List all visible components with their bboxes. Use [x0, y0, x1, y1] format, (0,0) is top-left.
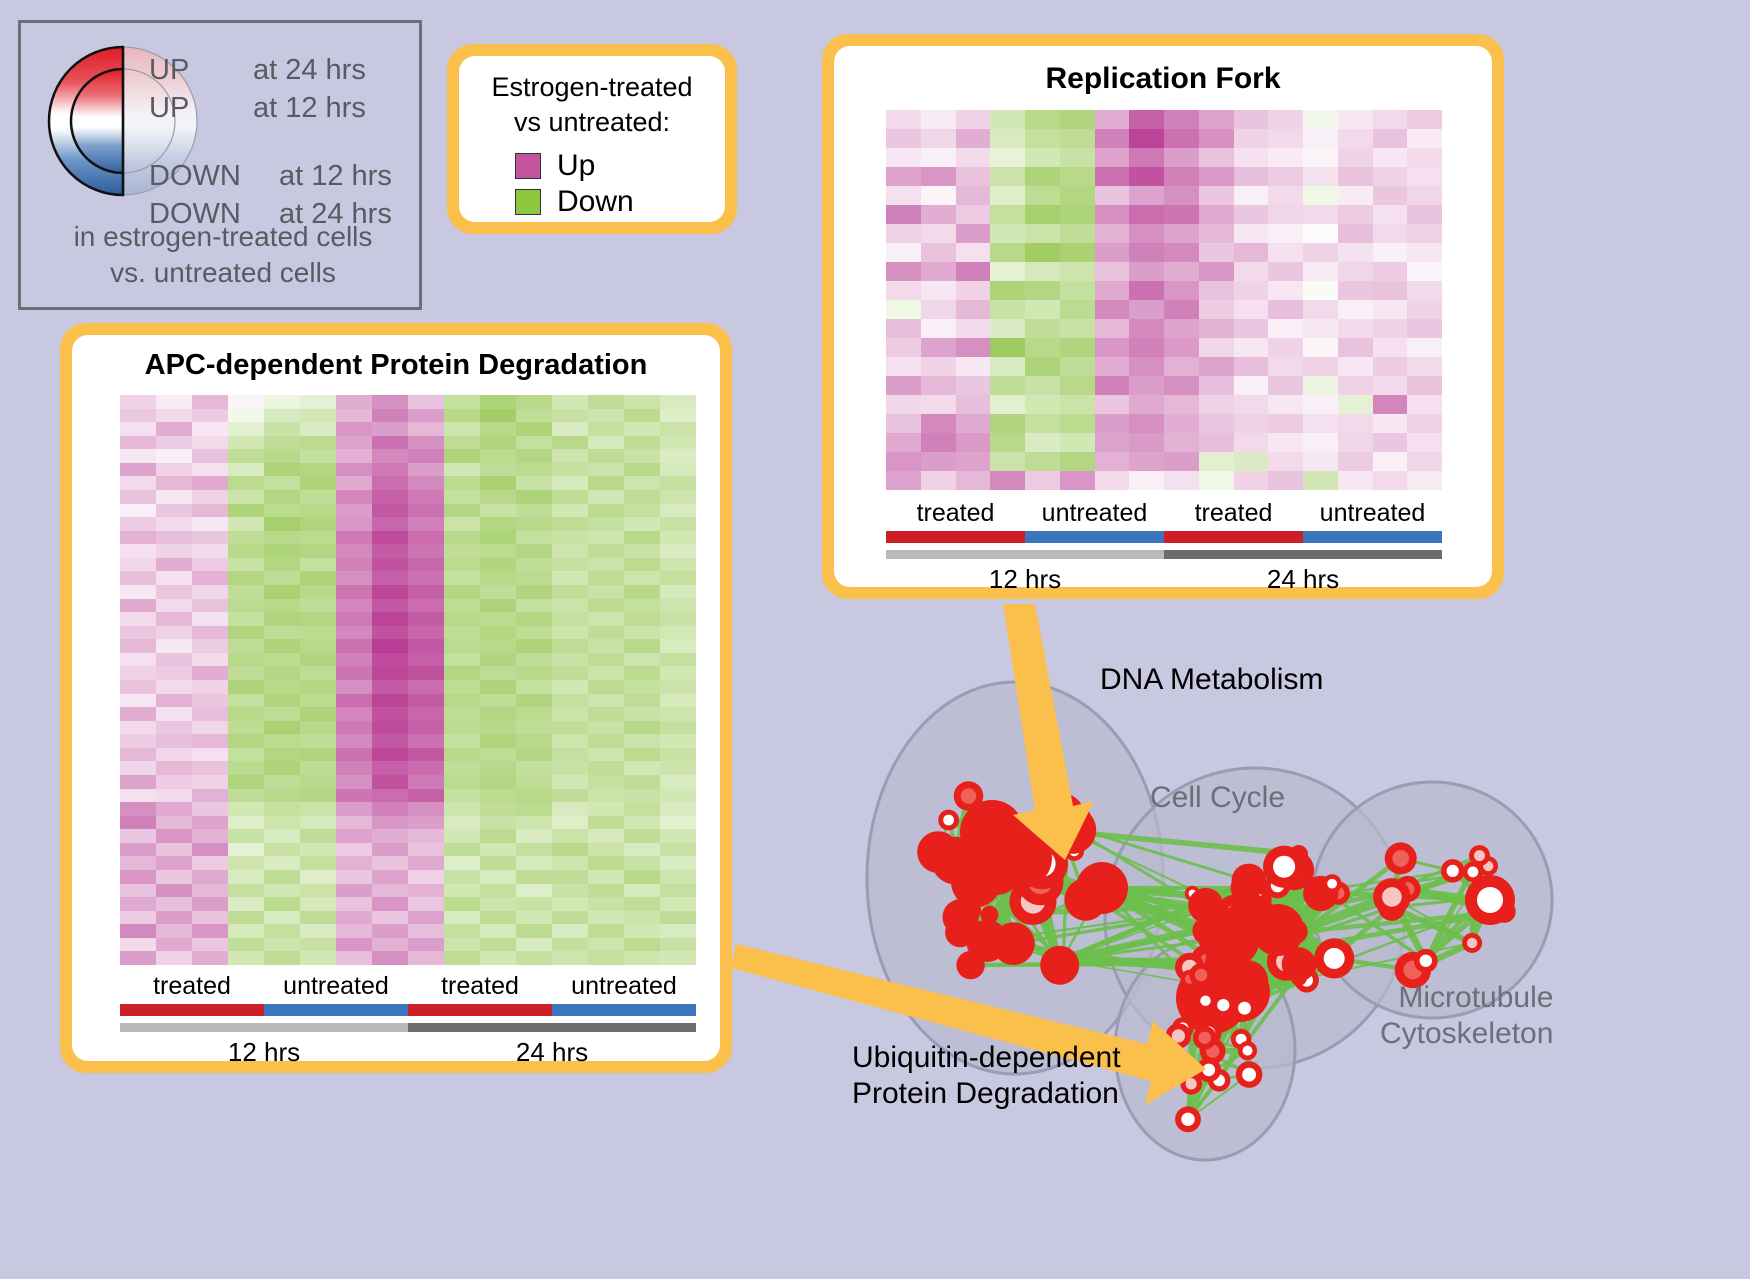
network-node-core: [1327, 879, 1337, 889]
heatmap-cell: [1129, 243, 1164, 262]
heatmap-cell: [300, 789, 336, 803]
heatmap-cell: [886, 205, 921, 224]
heatmap-cell: [300, 884, 336, 898]
heatmap-cell: [1199, 205, 1234, 224]
heatmap-cell: [300, 449, 336, 463]
heatmap-cell: [120, 789, 156, 803]
heatmap-cell: [1025, 452, 1060, 471]
heatmap-cell: [300, 517, 336, 531]
wheel-state-label: UP: [149, 94, 253, 123]
heatmap-cell: [552, 775, 588, 789]
heatmap-cell: [228, 884, 264, 898]
heatmap-cell: [156, 802, 192, 816]
network-node: [1039, 793, 1085, 839]
heatmap-cell: [156, 694, 192, 708]
heatmap-cell: [886, 452, 921, 471]
heatmap-cell: [192, 707, 228, 721]
heatmap-cell: [120, 694, 156, 708]
heatmap-cell: [156, 938, 192, 952]
heatmap-cell: [228, 585, 264, 599]
heatmap-cell: [516, 558, 552, 572]
heatmap-cell: [624, 571, 660, 585]
heatmap-cell: [192, 612, 228, 626]
heatmap-cell: [300, 775, 336, 789]
heatmap-cell: [408, 911, 444, 925]
heatmap-cell: [921, 452, 956, 471]
heatmap-cell: [372, 721, 408, 735]
heatmap-cell: [956, 452, 991, 471]
heatmap-cell: [444, 802, 480, 816]
heatmap-cell: [1303, 452, 1338, 471]
heatmap-cell: [552, 843, 588, 857]
heatmap-cell: [228, 707, 264, 721]
legend-item-label: Down: [557, 187, 634, 217]
heatmap-cell: [264, 517, 300, 531]
heatmap-cell: [192, 409, 228, 423]
heatmap-cell: [552, 707, 588, 721]
heatmap-cell: [300, 409, 336, 423]
heatmap-cell: [372, 938, 408, 952]
heatmap-cell: [516, 517, 552, 531]
heatmap-cell: [372, 829, 408, 843]
axis-group-label: untreated: [1025, 498, 1164, 528]
heatmap-cell: [336, 558, 372, 572]
heatmap-cell: [336, 626, 372, 640]
heatmap-cell: [120, 911, 156, 925]
axis-time-labels: 12 hrs 24 hrs: [120, 1036, 696, 1068]
heatmap-cell: [336, 924, 372, 938]
heatmap-cell: [372, 490, 408, 504]
heatmap-cell: [1373, 205, 1408, 224]
heatmap-cell: [1373, 300, 1408, 319]
heatmap-cell: [300, 734, 336, 748]
heatmap-cell: [120, 463, 156, 477]
heatmap-cell: [300, 911, 336, 925]
heatmap-cell: [1025, 129, 1060, 148]
heatmap-cell: [588, 829, 624, 843]
heatmap-cell: [336, 436, 372, 450]
heatmap-cell: [1303, 471, 1338, 490]
heatmap-cell: [1234, 471, 1269, 490]
heatmap-cell: [228, 612, 264, 626]
heatmap-cell: [336, 802, 372, 816]
heatmap-cell: [444, 680, 480, 694]
heatmap-cell: [264, 612, 300, 626]
heatmap-cell: [1199, 319, 1234, 338]
heatmap-cell: [660, 802, 696, 816]
heatmap-cell: [300, 544, 336, 558]
heatmap-cell: [552, 517, 588, 531]
heatmap-cell: [1268, 186, 1303, 205]
heatmap-cell: [1234, 167, 1269, 186]
untreated-bar-12h: [1025, 531, 1164, 543]
heatmap-cell: [228, 531, 264, 545]
heatmap-cell: [300, 816, 336, 830]
heatmap-cell: [1095, 110, 1130, 129]
heatmap-cell: [1407, 433, 1442, 452]
heatmap-cell: [1199, 376, 1234, 395]
heatmap-cell: [228, 694, 264, 708]
heatmap-cell: [228, 490, 264, 504]
heatmap-cell: [1095, 186, 1130, 205]
heatmap-cell: [660, 463, 696, 477]
heatmap-cell: [444, 653, 480, 667]
heatmap-cell: [1095, 338, 1130, 357]
heatmap-cell: [552, 734, 588, 748]
heatmap-cell: [1407, 148, 1442, 167]
heatmap-cell: [408, 694, 444, 708]
heatmap-cell: [1060, 376, 1095, 395]
heatmap-cell: [480, 544, 516, 558]
heatmap-cell: [516, 816, 552, 830]
heatmap-cell: [516, 544, 552, 558]
heatmap-cell: [120, 544, 156, 558]
heatmap-cell: [660, 544, 696, 558]
axis-group-label: treated: [886, 498, 1025, 528]
network-node-core: [1200, 996, 1210, 1006]
heatmap-cell: [300, 829, 336, 843]
heatmap-cell: [156, 653, 192, 667]
heatmap-cell: [1095, 148, 1130, 167]
heatmap-cell: [1234, 357, 1269, 376]
heatmap-cell: [264, 680, 300, 694]
heatmap-cell: [588, 694, 624, 708]
heatmap-cell: [120, 531, 156, 545]
heatmap-cell: [1060, 148, 1095, 167]
network-node-core: [961, 788, 976, 803]
heatmap-cell: [1129, 338, 1164, 357]
heatmap-cell: [1164, 376, 1199, 395]
heatmap-cell: [660, 884, 696, 898]
heatmap-cell: [1373, 452, 1408, 471]
colour-wheel-legend: UP at 24 hrs UP at 12 hrs DOWN at 12 hrs…: [18, 20, 422, 310]
heatmap-cell: [552, 748, 588, 762]
heatmap-cell: [516, 748, 552, 762]
heatmap-cell: [624, 789, 660, 803]
heatmap-cell: [588, 884, 624, 898]
heatmap-cell: [588, 789, 624, 803]
heatmap-cell: [624, 951, 660, 965]
heatmap-cell: [336, 409, 372, 423]
heatmap-cell: [372, 856, 408, 870]
heatmap-cell: [264, 653, 300, 667]
heatmap-cell: [264, 816, 300, 830]
heatmap-cell: [444, 626, 480, 640]
colour-wheel-caption: in estrogen-treated cells vs. untreated …: [21, 219, 425, 291]
heatmap-cell: [1268, 262, 1303, 281]
heatmap-cell: [588, 653, 624, 667]
heatmap-cell: [588, 422, 624, 436]
heatmap-cell: [1025, 224, 1060, 243]
heatmap-cell: [120, 449, 156, 463]
heatmap-cell: [372, 707, 408, 721]
network-node-core: [1273, 856, 1295, 878]
heatmap-cell: [192, 639, 228, 653]
network-node-core: [1172, 1029, 1185, 1042]
heatmap-cell: [1129, 300, 1164, 319]
heatmap-cell: [120, 870, 156, 884]
heatmap-cell: [264, 775, 300, 789]
heatmap-cell: [192, 517, 228, 531]
heatmap-cell: [1164, 224, 1199, 243]
heatmap-cell: [588, 911, 624, 925]
heatmap-cell: [990, 471, 1025, 490]
heatmap-cell: [624, 721, 660, 735]
heatmap-cell: [228, 436, 264, 450]
heatmap-cell: [228, 734, 264, 748]
heatmap-cell: [300, 490, 336, 504]
heatmap-cell: [1234, 110, 1269, 129]
legend-item-down: Down: [515, 184, 634, 220]
heatmap-cell: [660, 436, 696, 450]
heatmap-cell: [372, 775, 408, 789]
heatmap-cell: [588, 924, 624, 938]
heatmap-cell: [408, 924, 444, 938]
heatmap-cell: [1060, 281, 1095, 300]
heatmap-cell: [1303, 357, 1338, 376]
heatmap-cell: [624, 870, 660, 884]
heatmap-cell: [1129, 167, 1164, 186]
heatmap-cell: [480, 653, 516, 667]
heatmap-cell: [1025, 395, 1060, 414]
heatmap-cell: [192, 721, 228, 735]
heatmap-cell: [1199, 129, 1234, 148]
heatmap-cell: [552, 504, 588, 518]
heatmap-cell: [1199, 262, 1234, 281]
heatmap-cell: [1338, 262, 1373, 281]
heatmap-cell: [956, 186, 991, 205]
heatmap-cell: [264, 924, 300, 938]
heatmap-cell: [660, 694, 696, 708]
heatmap-cell: [624, 449, 660, 463]
heatmap-cell: [300, 626, 336, 640]
heatmap-cell: [1095, 414, 1130, 433]
heatmap-cell: [624, 843, 660, 857]
heatmap-cell: [336, 571, 372, 585]
heatmap-cell: [552, 531, 588, 545]
heatmap-cell: [408, 571, 444, 585]
heatmap-cell: [516, 449, 552, 463]
heatmap-cell: [624, 761, 660, 775]
heatmap-cell: [480, 490, 516, 504]
heatmap-cell: [480, 911, 516, 925]
heatmap-cell: [660, 626, 696, 640]
replication-fork-inner: Replication Fork treated untreated treat…: [834, 46, 1492, 587]
heatmap-cell: [588, 680, 624, 694]
apc-degradation-panel: APC-dependent Protein Degradation treate…: [60, 323, 732, 1073]
heatmap-cell: [228, 599, 264, 613]
heatmap-cell: [1095, 205, 1130, 224]
heatmap-cell: [1164, 433, 1199, 452]
heatmap-cell: [921, 319, 956, 338]
heatmap-cell: [480, 856, 516, 870]
heatmap-cell: [990, 281, 1025, 300]
heatmap-cell: [444, 558, 480, 572]
heatmap-cell: [886, 433, 921, 452]
heatmap-cell: [228, 951, 264, 965]
heatmap-cell: [660, 897, 696, 911]
heatmap-cell: [300, 748, 336, 762]
heatmap-cell: [336, 870, 372, 884]
heatmap-cell: [1129, 110, 1164, 129]
heatmap-cell: [921, 167, 956, 186]
heatmap-cell: [552, 626, 588, 640]
heatmap-cell: [1303, 148, 1338, 167]
heatmap-cell: [480, 409, 516, 423]
heatmap-cell: [408, 789, 444, 803]
heatmap-cell: [228, 422, 264, 436]
heatmap-cell: [1199, 357, 1234, 376]
heatmap-cell: [300, 612, 336, 626]
heatmap-cell: [372, 734, 408, 748]
heatmap-cell: [516, 612, 552, 626]
heatmap-cell: [480, 585, 516, 599]
heatmap-cell: [624, 463, 660, 477]
heatmap-cell: [990, 414, 1025, 433]
heatmap-cell: [372, 504, 408, 518]
heatmap-cell: [1373, 224, 1408, 243]
heatmap-cell: [372, 870, 408, 884]
legend-title-line-2: vs untreated:: [459, 105, 725, 140]
heatmap-cell: [660, 951, 696, 965]
heatmap-cell: [228, 449, 264, 463]
heatmap-cell: [264, 436, 300, 450]
heatmap-cell: [480, 436, 516, 450]
legend-title-line-1: Estrogen-treated: [459, 70, 725, 105]
heatmap-cell: [921, 262, 956, 281]
heatmap-cell: [192, 924, 228, 938]
axis-time-label: 12 hrs: [886, 563, 1164, 595]
heatmap-cell: [956, 338, 991, 357]
heatmap-cell: [192, 449, 228, 463]
heatmap-cell: [408, 843, 444, 857]
caption-line-2: vs. untreated cells: [21, 255, 425, 291]
heatmap-cell: [588, 639, 624, 653]
heatmap-cell: [516, 504, 552, 518]
heatmap-cell: [1303, 319, 1338, 338]
heatmap-cell: [444, 721, 480, 735]
heatmap-cell: [336, 721, 372, 735]
heatmap-cell: [336, 395, 372, 409]
heatmap-cell: [660, 395, 696, 409]
heatmap-cell: [372, 666, 408, 680]
heatmap-cell: [886, 471, 921, 490]
heatmap-cell: [372, 436, 408, 450]
heatmap-cell: [120, 517, 156, 531]
heatmap-cell: [1060, 110, 1095, 129]
heatmap-cell: [300, 639, 336, 653]
heatmap-cell: [1268, 395, 1303, 414]
heatmap-cell: [956, 129, 991, 148]
heatmap-cell: [156, 531, 192, 545]
heatmap-cell: [1129, 319, 1164, 338]
heatmap-cell: [480, 599, 516, 613]
heatmap-cell: [336, 612, 372, 626]
heatmap-cell: [1129, 376, 1164, 395]
heatmap-cell: [336, 829, 372, 843]
heatmap-cell: [408, 449, 444, 463]
heatmap-cell: [1338, 148, 1373, 167]
heatmap-cell: [516, 843, 552, 857]
heatmap-cell: [1199, 338, 1234, 357]
heatmap-cell: [1025, 167, 1060, 186]
heatmap-cell: [1373, 319, 1408, 338]
heatmap-cell: [408, 585, 444, 599]
heatmap-cell: [1234, 376, 1269, 395]
heatmap-cell: [552, 449, 588, 463]
heatmap-cell: [336, 789, 372, 803]
heatmap-cell: [480, 517, 516, 531]
heatmap-cell: [192, 422, 228, 436]
heatmap-cell: [1164, 319, 1199, 338]
heatmap-cell: [372, 653, 408, 667]
heatmap-cell: [552, 653, 588, 667]
heatmap-cell: [552, 476, 588, 490]
heatmap-cell: [1164, 167, 1199, 186]
heatmap-cell: [624, 490, 660, 504]
heatmap-cell: [156, 829, 192, 843]
heatmap-cell: [480, 395, 516, 409]
heatmap-cell: [588, 816, 624, 830]
heatmap-cell: [228, 761, 264, 775]
heatmap-cell: [444, 571, 480, 585]
heatmap-cell: [886, 110, 921, 129]
heatmap-cell: [336, 639, 372, 653]
heatmap-cell: [886, 376, 921, 395]
heatmap-cell: [1199, 281, 1234, 300]
heatmap-cell: [372, 761, 408, 775]
heatmap-cell: [264, 599, 300, 613]
heatmap-cell: [552, 924, 588, 938]
heatmap-cell: [1095, 319, 1130, 338]
heatmap-cell: [1199, 224, 1234, 243]
heatmap-cell: [156, 639, 192, 653]
heatmap-cell: [1303, 300, 1338, 319]
cluster-label-dna-metabolism: DNA Metabolism: [1100, 662, 1323, 698]
heatmap-cell: [228, 938, 264, 952]
heatmap-cell: [1338, 357, 1373, 376]
heatmap-cell: [120, 829, 156, 843]
treated-bar-24h: [408, 1004, 552, 1016]
heatmap-cell: [956, 262, 991, 281]
heatmap-cell: [1199, 243, 1234, 262]
heatmap-cell: [120, 436, 156, 450]
heatmap-cell: [408, 884, 444, 898]
heatmap-cell: [300, 463, 336, 477]
cluster-label-text: DNA Metabolism: [1100, 662, 1323, 698]
heatmap-cell: [192, 761, 228, 775]
heatmap-cell: [444, 761, 480, 775]
heatmap-cell: [372, 449, 408, 463]
heatmap-cell: [1407, 376, 1442, 395]
network-node: [956, 951, 984, 979]
heatmap-cell: [228, 476, 264, 490]
heatmap-cell: [1373, 186, 1408, 205]
heatmap-cell: [624, 707, 660, 721]
heatmap-cell: [588, 775, 624, 789]
heatmap-cell: [480, 463, 516, 477]
heatmap-cell: [264, 490, 300, 504]
heatmap-cell: [480, 626, 516, 640]
heatmap-cell: [264, 558, 300, 572]
heatmap-cell: [408, 639, 444, 653]
heatmap-cell: [156, 897, 192, 911]
panel-title: Replication Fork: [834, 62, 1492, 96]
heatmap-cell: [480, 789, 516, 803]
heatmap-cell: [300, 599, 336, 613]
caption-line-1: in estrogen-treated cells: [21, 219, 425, 255]
heatmap-cell: [336, 531, 372, 545]
